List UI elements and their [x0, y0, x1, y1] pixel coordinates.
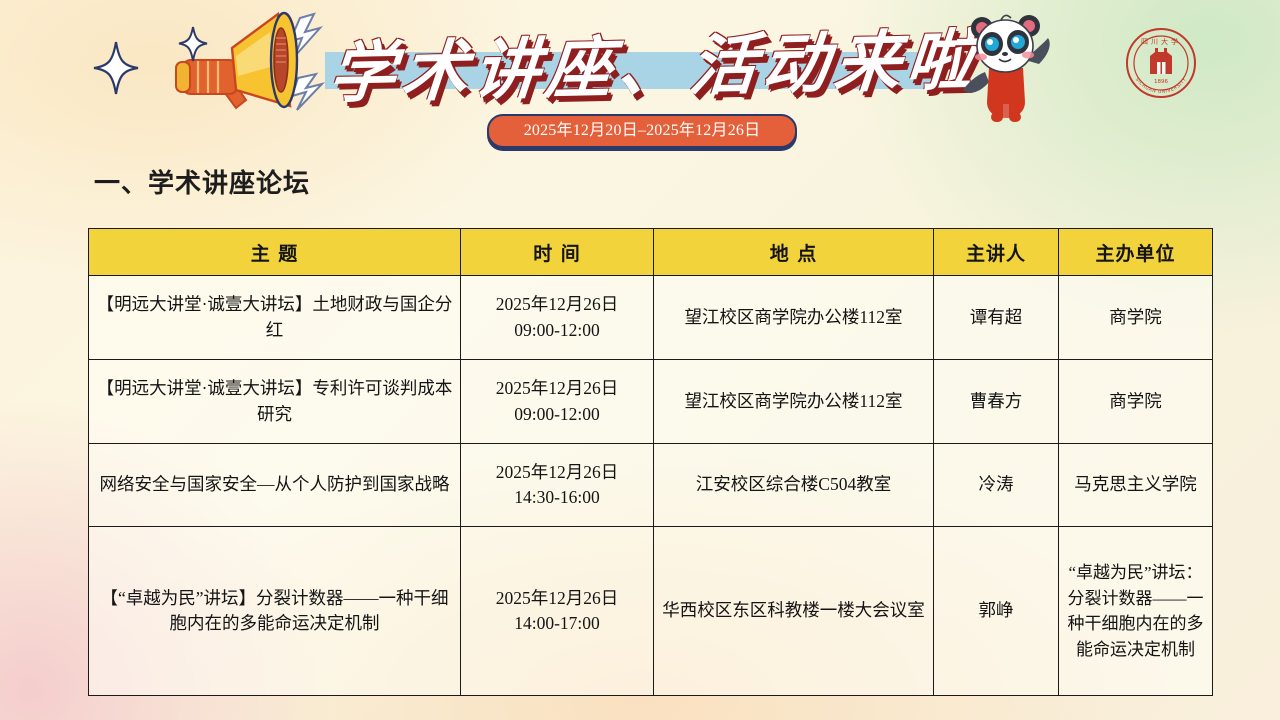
cell-time: 2025年12月26日 14:00-17:00 — [461, 527, 654, 696]
cell-time-date: 2025年12月26日 — [468, 586, 646, 611]
sparkle-icon — [92, 40, 140, 101]
table-row: 【明远大讲堂·诚壹大讲坛】专利许可谈判成本研究 2025年12月26日 09:0… — [89, 360, 1213, 444]
cell-organizer: 马克思主义学院 — [1059, 444, 1213, 527]
page-title: 学术讲座、活动来啦 — [326, 16, 935, 119]
sichuan-university-logo: 1896 四川大学 SICHUAN UNIVERSITY — [1124, 26, 1198, 105]
cell-time: 2025年12月26日 14:30-16:00 — [461, 444, 654, 527]
table-row: 【明远大讲堂·诚壹大讲坛】土地财政与国企分红 2025年12月26日 09:00… — [89, 276, 1213, 360]
cell-topic: 【“卓越为民”讲坛】分裂计数器——一种干细胞内在的多能命运决定机制 — [89, 527, 461, 696]
cell-time-range: 14:30-16:00 — [468, 485, 646, 510]
cell-time-range: 09:00-12:00 — [468, 402, 646, 427]
cell-topic: 网络安全与国家安全—从个人防护到国家战略 — [89, 444, 461, 527]
cell-speaker: 郭峥 — [934, 527, 1059, 696]
poster-page: 学术讲座、活动来啦 2025年12月20日–2025年12月26日 — [0, 0, 1280, 720]
cell-place: 望江校区商学院办公楼112室 — [654, 276, 934, 360]
table-header-row: 主 题 时 间 地 点 主讲人 主办单位 — [89, 229, 1213, 276]
cell-time-date: 2025年12月26日 — [468, 292, 646, 317]
cell-organizer: 商学院 — [1059, 360, 1213, 444]
svg-text:1896: 1896 — [1154, 79, 1168, 85]
cell-topic: 【明远大讲堂·诚壹大讲坛】专利许可谈判成本研究 — [89, 360, 461, 444]
svg-text:四川大学: 四川大学 — [1141, 37, 1181, 46]
column-header-topic: 主 题 — [89, 229, 461, 276]
column-header-time: 时 间 — [461, 229, 654, 276]
table-row: 【“卓越为民”讲坛】分裂计数器——一种干细胞内在的多能命运决定机制 2025年1… — [89, 527, 1213, 696]
cell-time-range: 09:00-12:00 — [468, 318, 646, 343]
sparkle-icon — [178, 26, 208, 67]
section-heading: 一、学术讲座论坛 — [94, 163, 310, 200]
cell-time-date: 2025年12月26日 — [468, 460, 646, 485]
cell-time-range: 14:00-17:00 — [468, 611, 646, 636]
column-header-place: 地 点 — [654, 229, 934, 276]
cell-speaker: 冷涛 — [934, 444, 1059, 527]
cell-place: 江安校区综合楼C504教室 — [654, 444, 934, 527]
cell-speaker: 曹春方 — [934, 360, 1059, 444]
cell-place: 望江校区商学院办公楼112室 — [654, 360, 934, 444]
cell-topic: 【明远大讲堂·诚壹大讲坛】土地财政与国企分红 — [89, 276, 461, 360]
cell-time-date: 2025年12月26日 — [468, 376, 646, 401]
cell-place: 华西校区东区科教楼一楼大会议室 — [654, 527, 934, 696]
cell-organizer: 商学院 — [1059, 276, 1213, 360]
column-header-speaker: 主讲人 — [934, 229, 1059, 276]
cell-time: 2025年12月26日 09:00-12:00 — [461, 276, 654, 360]
cell-organizer: “卓越为民”讲坛：分裂计数器——一种干细胞内在的多能命运决定机制 — [1059, 527, 1213, 696]
cell-time: 2025年12月26日 09:00-12:00 — [461, 360, 654, 444]
panda-mascot-icon — [955, 6, 1055, 131]
column-header-organizer: 主办单位 — [1059, 229, 1213, 276]
cell-speaker: 谭有超 — [934, 276, 1059, 360]
table-row: 网络安全与国家安全—从个人防护到国家战略 2025年12月26日 14:30-1… — [89, 444, 1213, 527]
date-range-badge: 2025年12月20日–2025年12月26日 — [487, 114, 797, 148]
lecture-schedule-table: 主 题 时 间 地 点 主讲人 主办单位 【明远大讲堂·诚壹大讲坛】土地财政与国… — [88, 228, 1213, 696]
